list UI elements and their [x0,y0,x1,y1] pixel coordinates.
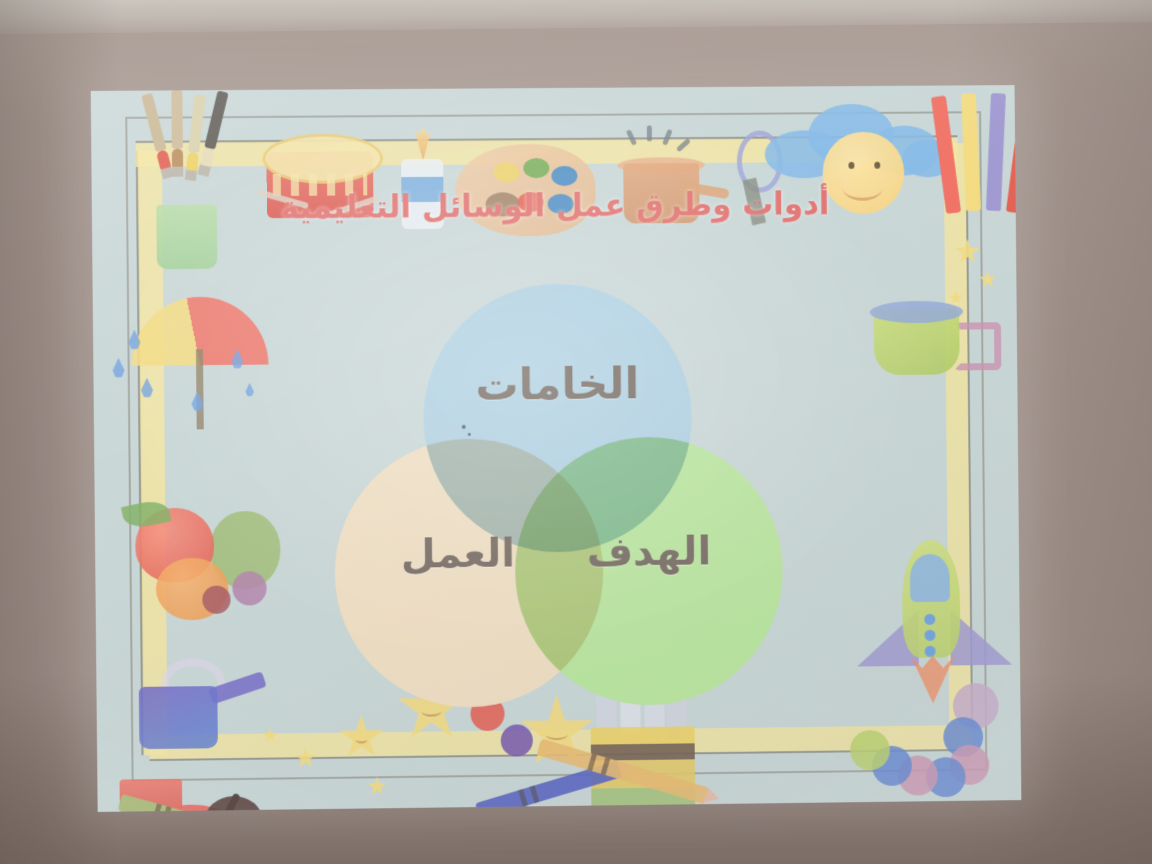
fruit-cluster-icon [113,470,306,622]
umbrella-icon [131,286,283,438]
grapes-icon [232,571,267,605]
dust-speck [462,425,466,429]
rocket-icon [858,535,1009,706]
projection-area: أدوات وطرق عمل الوسائل التعليمية الخامات… [91,85,1022,812]
venn-label-goal: الهدف [535,528,763,576]
raindrop-icon [111,358,125,378]
slide-title: أدوات وطرق عمل الوسائل التعليمية [92,185,1016,228]
caterpillar-icon [857,682,1021,812]
venn-label-work: العمل [350,530,565,578]
projected-slide-photo: أدوات وطرق عمل الوسائل التعليمية الخامات… [0,0,1152,864]
mug-icon [870,296,990,393]
venn-label-materials: الخامات [333,358,781,412]
dust-speck [468,433,471,436]
slide-canvas: أدوات وطرق عمل الوسائل التعليمية الخامات… [91,85,1022,812]
venn-diagram: الخامات العمل الهدف [332,282,784,686]
star-icon [367,776,387,796]
grapes-icon [202,586,230,614]
